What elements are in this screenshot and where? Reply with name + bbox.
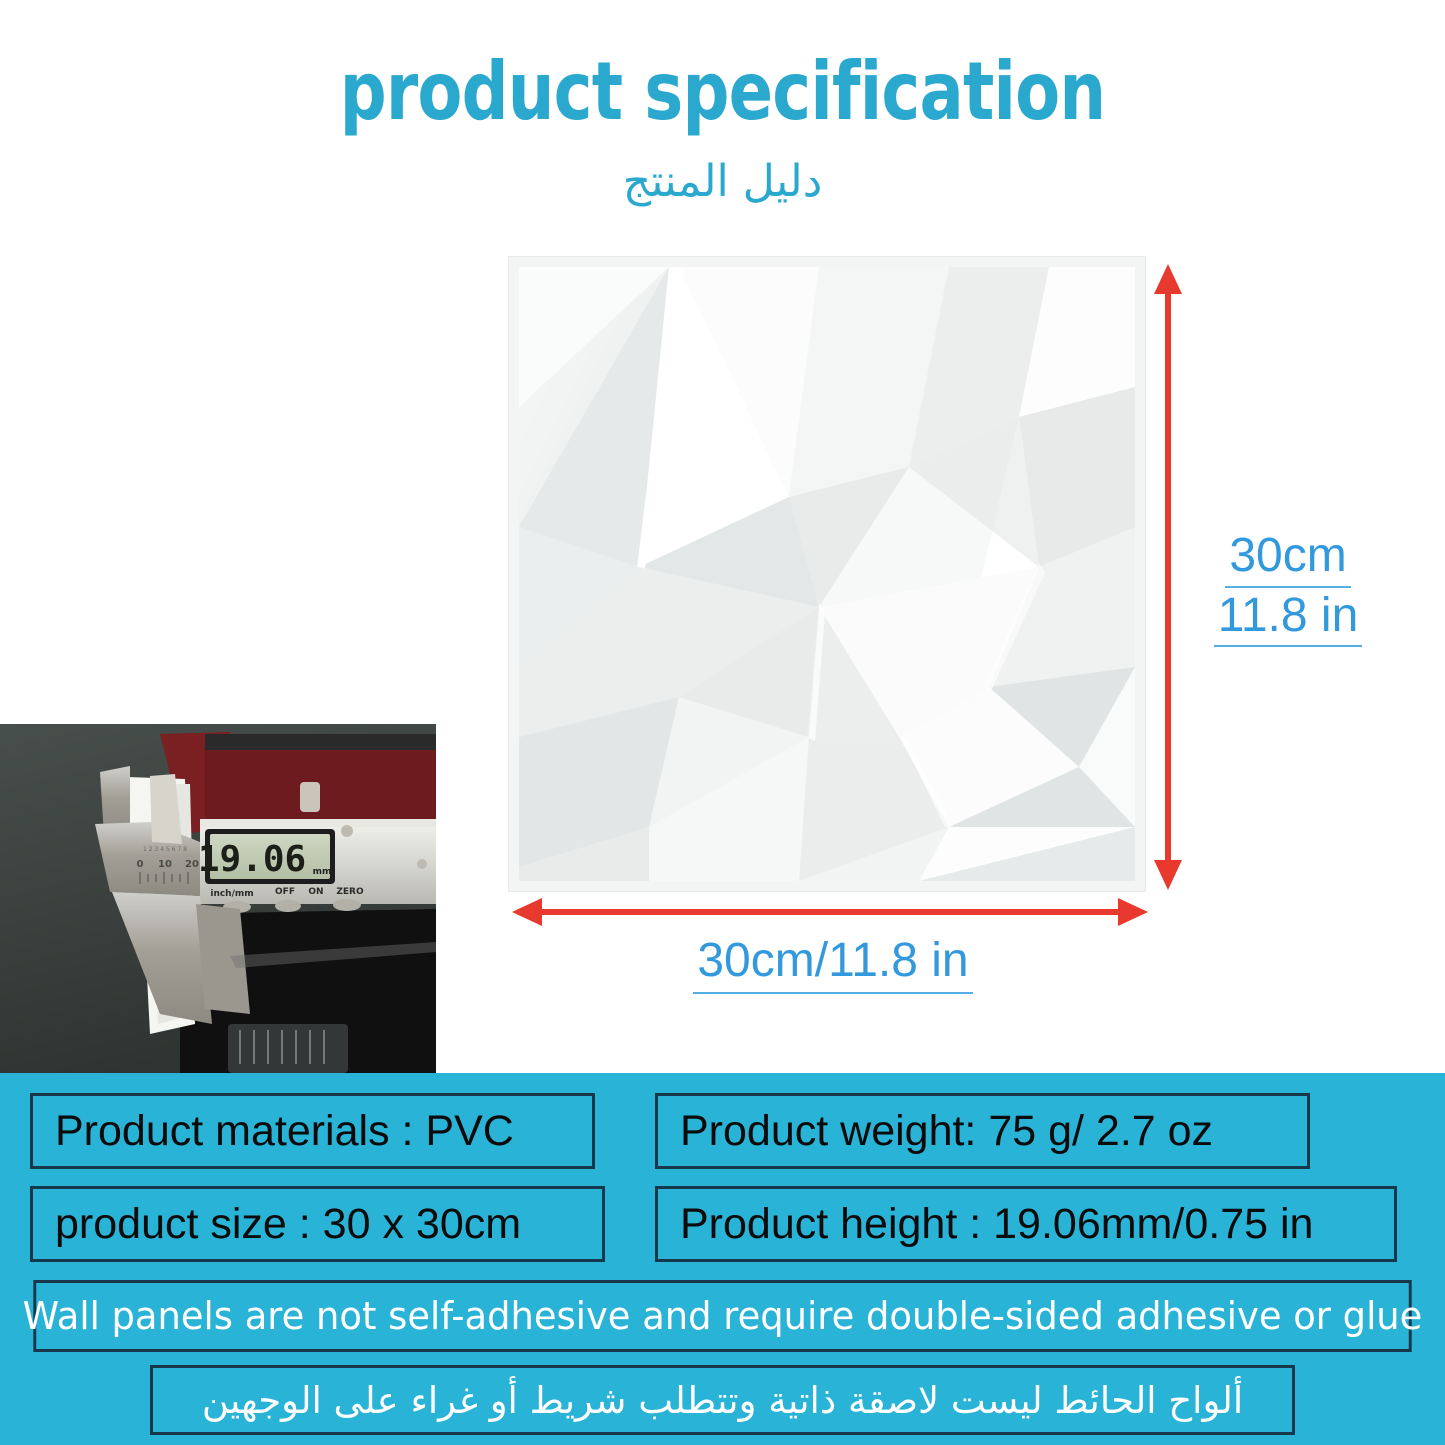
spec-product-materials: Product materials : PVC — [30, 1093, 595, 1169]
spec-product-height: Product height : 19.06mm/0.75 in — [655, 1186, 1397, 1262]
caliper-button-inchmm: inch/mm — [210, 889, 253, 899]
spec-product-weight: Product weight: 75 g/ 2.7 oz — [655, 1093, 1310, 1169]
dimension-arrow-horizontal — [510, 896, 1150, 928]
panel-frame — [508, 256, 1146, 892]
caliper-button-off: OFF — [275, 887, 295, 897]
page-title: product specification — [130, 52, 1315, 132]
caliper-scale-10: 10 — [158, 859, 172, 870]
panel-diamond-pattern — [519, 267, 1135, 881]
caliper-scale-20: 20 — [185, 859, 199, 870]
caliper-scale-numbers: 1 2 3 4 5 6 7 8 — [143, 846, 187, 853]
caliper-lcd-reading: 19.06 — [198, 839, 306, 880]
dimension-horizontal-value: 30cm/11.8 in — [693, 932, 972, 994]
caliper-button-zero: ZERO — [336, 887, 364, 897]
adhesive-note-arabic: ألواح الحائط ليست لاصقة ذاتية وتتطلب شري… — [150, 1365, 1295, 1435]
dimension-vertical-cm: 30cm — [1225, 528, 1350, 588]
product-panel-image — [508, 256, 1146, 892]
adhesive-note-english: Wall panels are not self-adhesive and re… — [33, 1280, 1411, 1352]
caliper-button-on: ON — [308, 887, 323, 897]
caliper-photo-svg: 19.06 mm inch/mm OFF ON ZERO — [0, 724, 436, 1073]
infographic-root: product specification دليل المنتج — [0, 0, 1445, 1445]
caliper-photo: 19.06 mm inch/mm OFF ON ZERO — [0, 724, 436, 1073]
arrow-horizontal-icon — [510, 896, 1150, 928]
specifications-panel: Product materials : PVC Product weight: … — [0, 1073, 1445, 1445]
spec-product-size: product size : 30 x 30cm — [30, 1186, 605, 1262]
caliper-lcd-unit: mm — [313, 867, 332, 877]
diamond-facets-svg — [519, 267, 1135, 881]
dimension-label-vertical: 30cm 11.8 in — [1138, 528, 1438, 647]
dimension-vertical-inch: 11.8 in — [1214, 588, 1363, 648]
dimension-label-horizontal: 30cm/11.8 in — [513, 932, 1153, 994]
page-subtitle-arabic: دليل المنتج — [0, 158, 1445, 206]
caliper-scale-0: 0 — [137, 859, 144, 870]
